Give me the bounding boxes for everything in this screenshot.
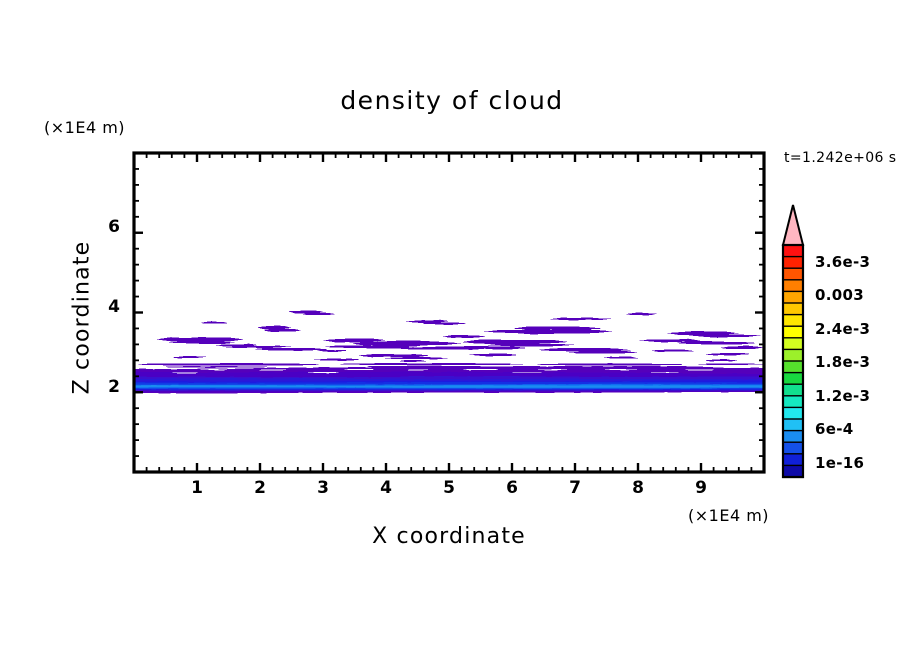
- x-tick-label: 2: [248, 478, 272, 498]
- x-axis-title: X coordinate: [134, 524, 764, 549]
- y-tick-label: 4: [104, 297, 124, 317]
- colorbar-tick-label: 3.6e-3: [815, 253, 870, 271]
- x-tick-label: 9: [689, 478, 713, 498]
- x-tick-label: 3: [311, 478, 335, 498]
- x-tick-label: 6: [500, 478, 524, 498]
- figure-canvas: density of cloud (×1E4 m) t=1.242e+06 s …: [0, 0, 904, 654]
- y-tick-label: 2: [104, 377, 124, 397]
- colorbar-tick-label: 2.4e-3: [815, 320, 870, 338]
- colorbar-tick-label: 0.003: [815, 286, 864, 304]
- z-axis-unit-label: (×1E4 m): [44, 118, 125, 137]
- x-tick-label: 7: [563, 478, 587, 498]
- x-tick-label: 4: [374, 478, 398, 498]
- colorbar-tick-label: 1.2e-3: [815, 387, 870, 405]
- y-tick-label: 6: [104, 217, 124, 237]
- x-tick-label: 8: [626, 478, 650, 498]
- x-tick-label: 5: [437, 478, 461, 498]
- colorbar-tick-label: 1.8e-3: [815, 353, 870, 371]
- x-tick-label: 1: [185, 478, 209, 498]
- colorbar-tick-label: 6e-4: [815, 420, 853, 438]
- timestamp-annotation: t=1.242e+06 s: [784, 150, 896, 166]
- colorbar-tick-label: 1e-16: [815, 454, 864, 472]
- colorbar: [775, 198, 815, 488]
- axes-frame: [120, 140, 790, 500]
- x-axis-unit-label: (×1E4 m): [688, 506, 769, 525]
- page-title: density of cloud: [0, 86, 904, 115]
- y-axis-title: Z coordinate: [70, 208, 95, 428]
